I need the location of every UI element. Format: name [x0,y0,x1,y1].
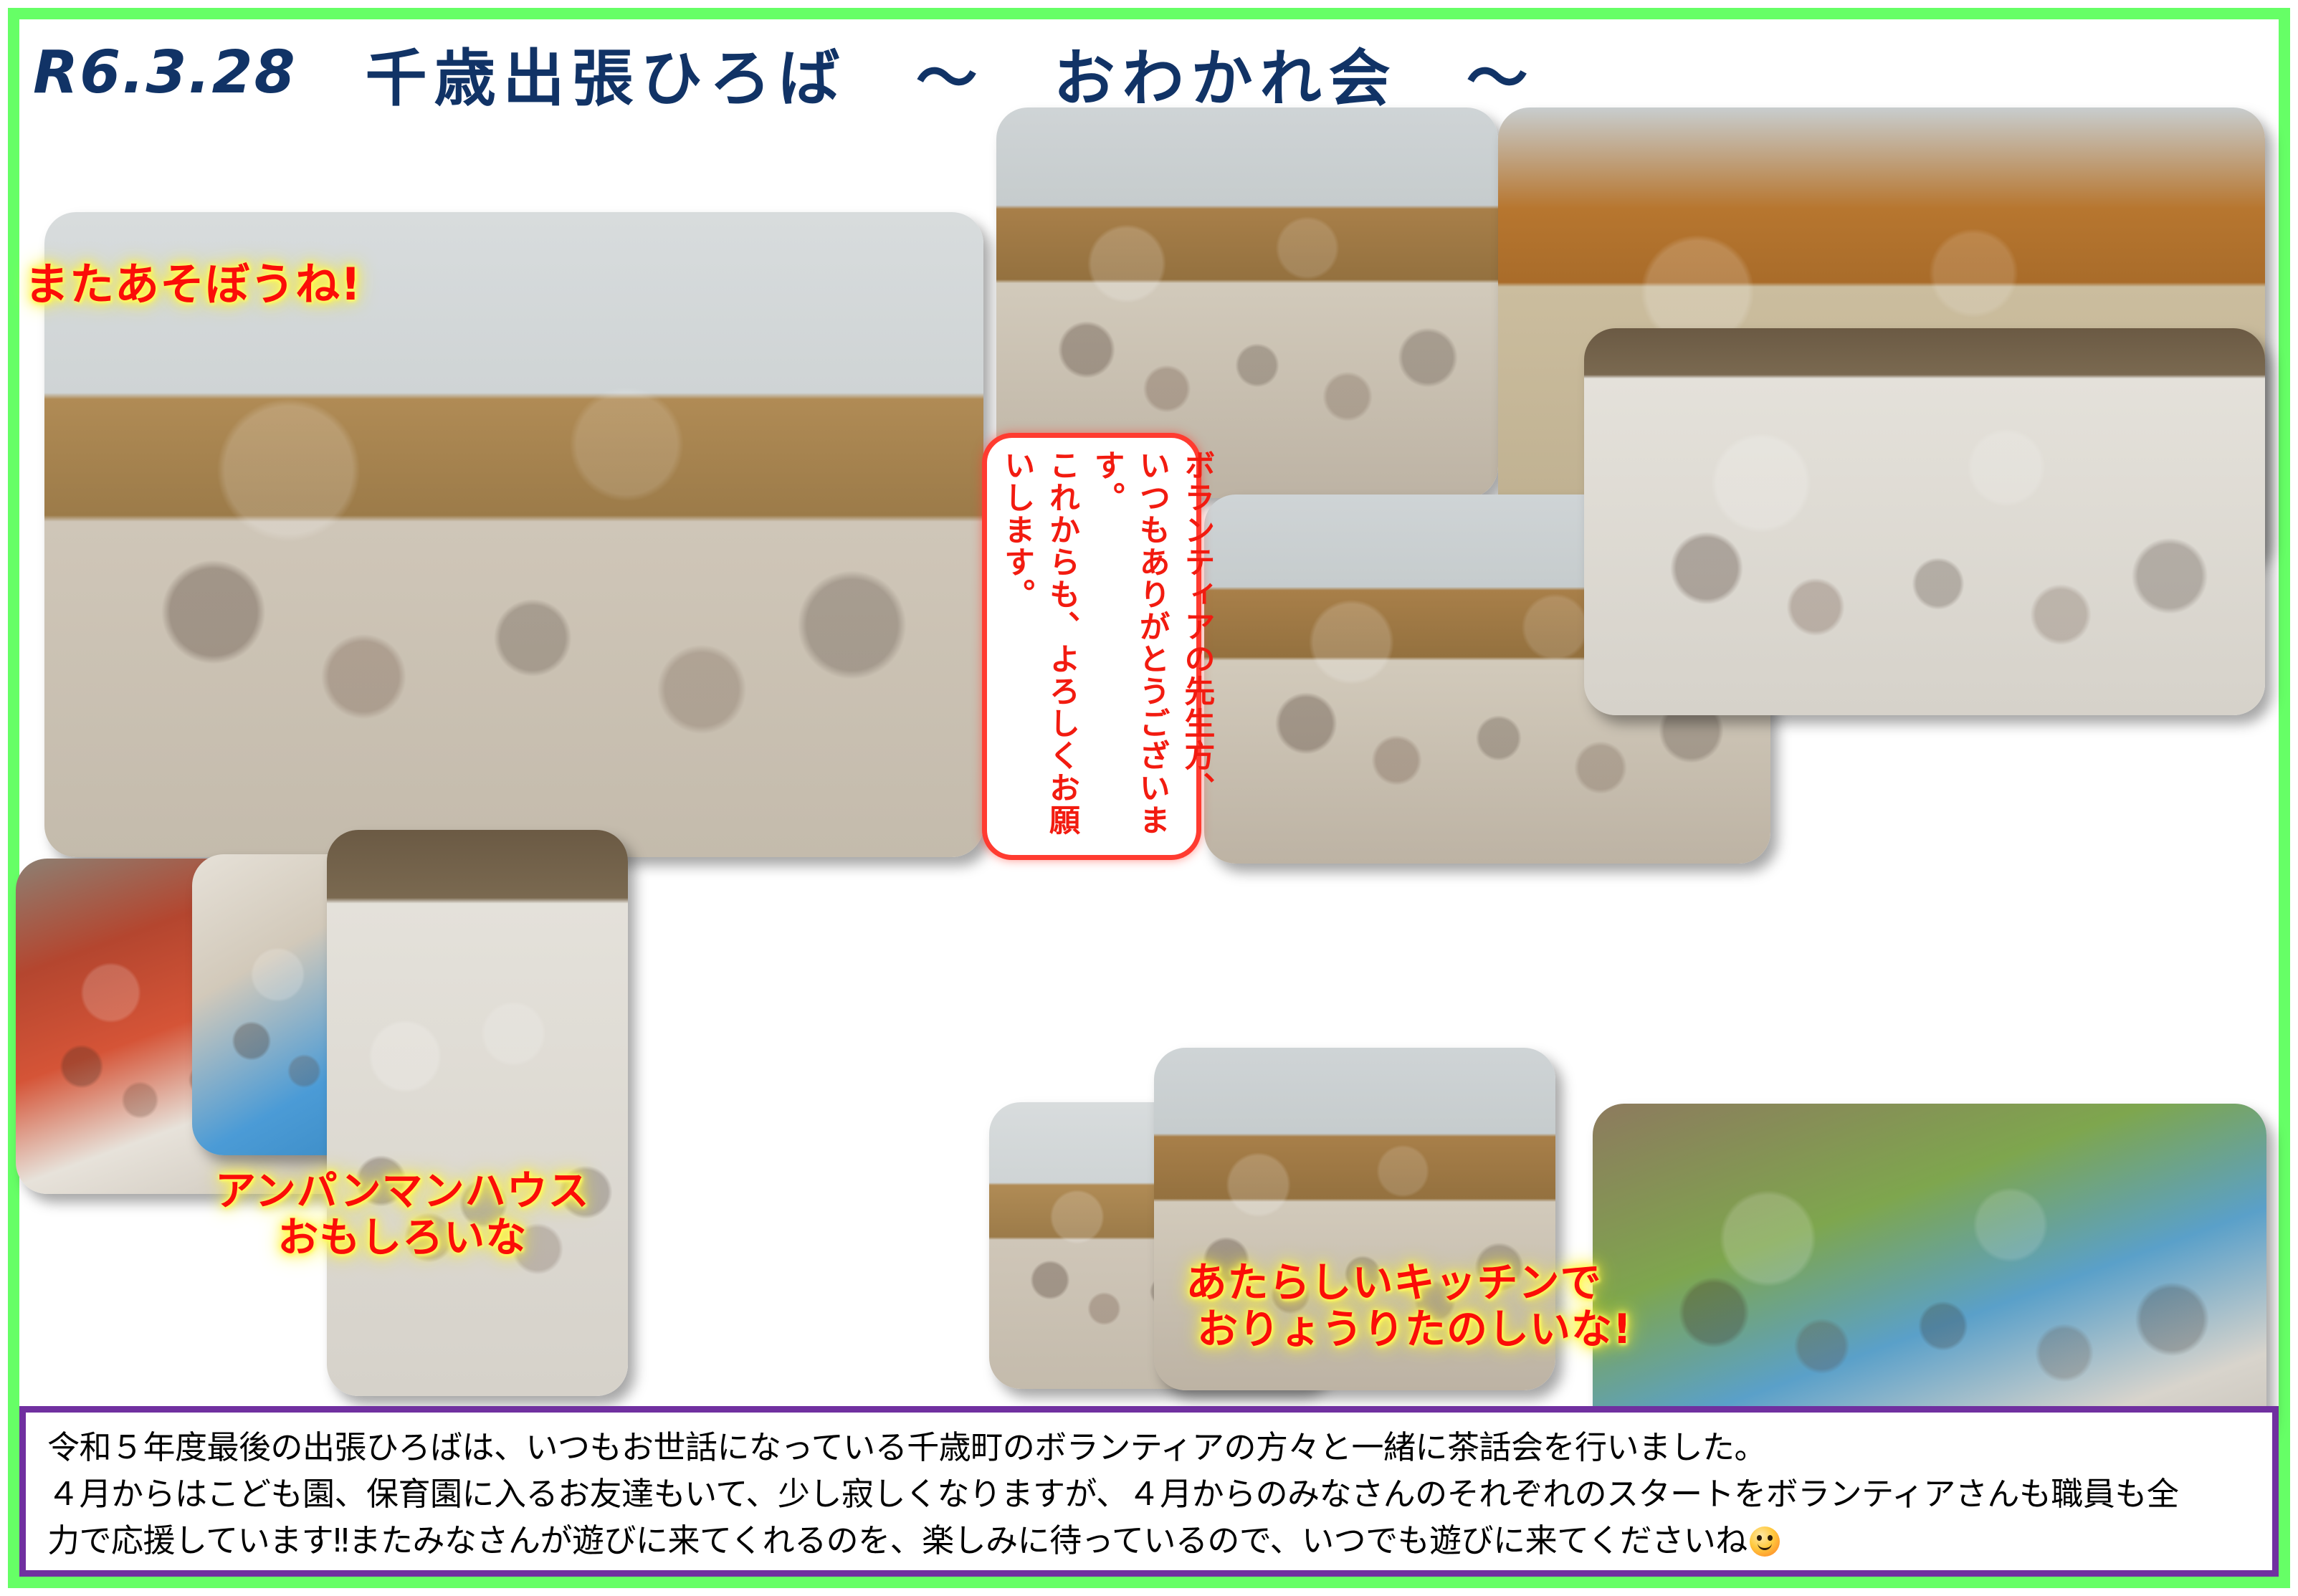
smiling-face-icon [1750,1526,1780,1557]
caption-new-kitchen: あたらしいキッチンで おりょうりたのしいな! [1155,1260,1632,1353]
footer-line-3-text: 力で応援しています‼またみなさんが遊びに来てくれるのを、楽しみに待っているので、… [47,1521,1748,1559]
footer-line-1: 令和５年度最後の出張ひろばは、いつもお世話になっている千歳町のボランティアの方々… [47,1425,2254,1469]
footer-line-2: ４月からはこども園、保育園に入るお友達もいて、少し寂しくなりますが、４月からのみ… [47,1472,2254,1516]
photo-toddler-walking [327,830,628,1396]
thank-you-callout: ボランティアの先生方、 いつもありがとうございます。 これからも、よろしくお願い… [982,433,1201,860]
caption-play-again: またあそぼうね! [24,259,361,310]
photo-playpen-children [1593,1104,2266,1440]
photo-children-playing-floor [1584,328,2265,715]
issue-date: R6.3.28 [33,39,297,107]
footer-line-3: 力で応援しています‼またみなさんが遊びに来てくれるのを、楽しみに待っているので、… [47,1519,2254,1562]
page-header: R6.3.28 千歳出張ひろば ～ おわかれ会 ～ [0,26,2298,119]
poster-page: R6.3.28 千歳出張ひろば ～ おわかれ会 ～ [0,0,2298,1596]
callout-text: ボランティアの先生方、 いつもありがとうございます。 これからも、よろしくお願い… [994,449,1219,848]
footer-note-box: 令和５年度最後の出張ひろばは、いつもお世話になっている千歳町のボランティアの方々… [19,1406,2279,1577]
caption-anpanman-house: アンパンマンハウス おもしろいな [215,1168,590,1261]
page-title: 千歳出張ひろば ～ おわかれ会 ～ [366,28,1535,118]
